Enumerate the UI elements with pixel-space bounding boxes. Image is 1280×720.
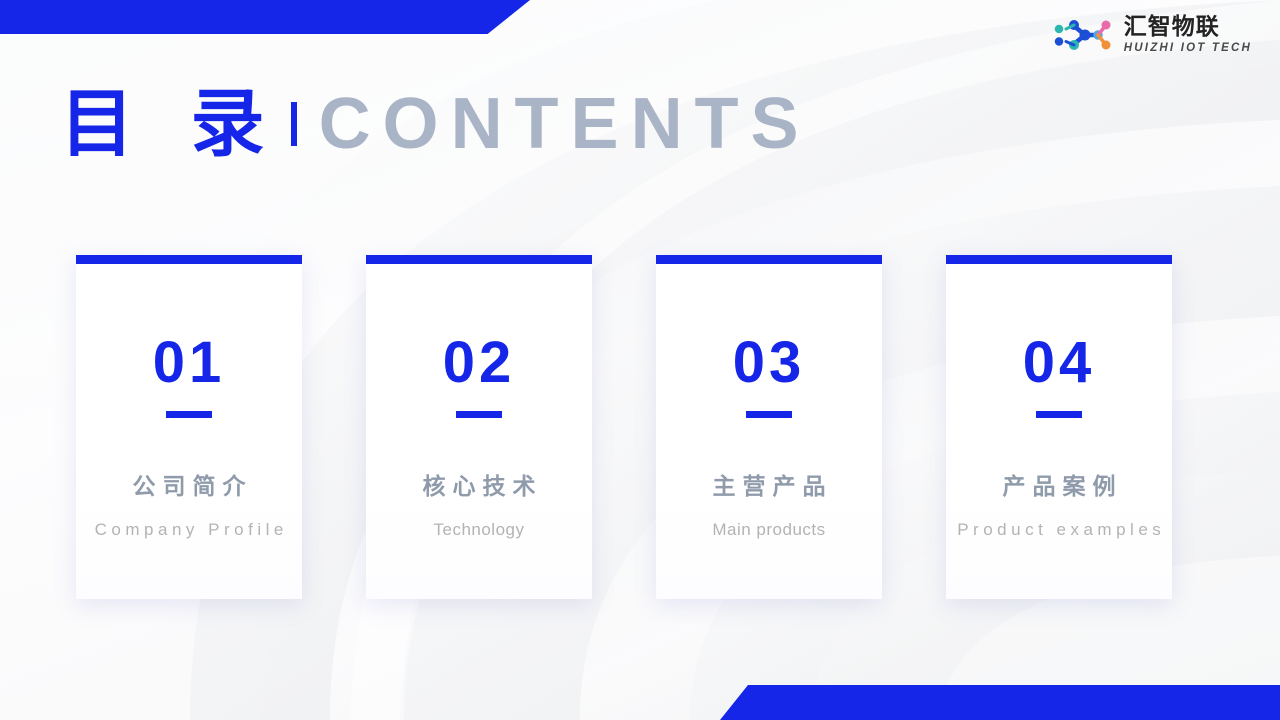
company-logo: 汇智物联 HUIZHI IOT TECH — [1054, 14, 1252, 56]
card-underline — [166, 411, 212, 418]
card-number: 01 — [153, 334, 226, 392]
logo-text: 汇智物联 HUIZHI IOT TECH — [1124, 15, 1252, 55]
network-nodes-icon — [1054, 14, 1116, 56]
contents-card-03[interactable]: 03 主营产品 Main products — [656, 255, 882, 599]
card-top-accent-bar — [946, 255, 1172, 264]
card-number: 02 — [443, 334, 516, 392]
card-number: 04 — [1023, 334, 1096, 392]
bottom-right-ribbon — [720, 685, 1280, 720]
contents-card-row: 01 公司简介 Company Profile 02 核心技术 Technolo… — [76, 255, 1172, 599]
contents-slide: 目 录 CONTENTS 汇智物联 HUIZHI IOT TECH — [0, 0, 1280, 720]
card-underline — [1036, 411, 1082, 418]
card-title-en: Main products — [706, 515, 831, 544]
card-title-cn: 核心技术 — [416, 467, 543, 501]
card-title-en: Technology — [427, 515, 530, 544]
logo-name-en: HUIZHI IOT TECH — [1124, 43, 1252, 55]
card-title-cn: 主营产品 — [706, 467, 833, 501]
top-left-ribbon — [0, 0, 530, 34]
card-title-en: Product examples — [947, 515, 1172, 544]
page-title-en: CONTENTS — [319, 88, 811, 160]
card-title-cn: 公司简介 — [126, 467, 253, 501]
card-top-accent-bar — [656, 255, 882, 264]
card-underline — [456, 411, 502, 418]
contents-card-02[interactable]: 02 核心技术 Technology — [366, 255, 592, 599]
card-title-en: Company Profile — [84, 515, 294, 544]
card-top-accent-bar — [76, 255, 302, 264]
card-number: 03 — [733, 334, 806, 392]
page-title-cn: 目 录 — [60, 87, 283, 161]
logo-name-cn: 汇智物联 — [1124, 15, 1252, 38]
contents-card-04[interactable]: 04 产品案例 Product examples — [946, 255, 1172, 599]
page-title: 目 录 CONTENTS — [60, 74, 811, 174]
card-title-cn: 产品案例 — [996, 467, 1123, 501]
title-separator — [291, 102, 297, 146]
card-top-accent-bar — [366, 255, 592, 264]
contents-card-01[interactable]: 01 公司简介 Company Profile — [76, 255, 302, 599]
card-underline — [746, 411, 792, 418]
